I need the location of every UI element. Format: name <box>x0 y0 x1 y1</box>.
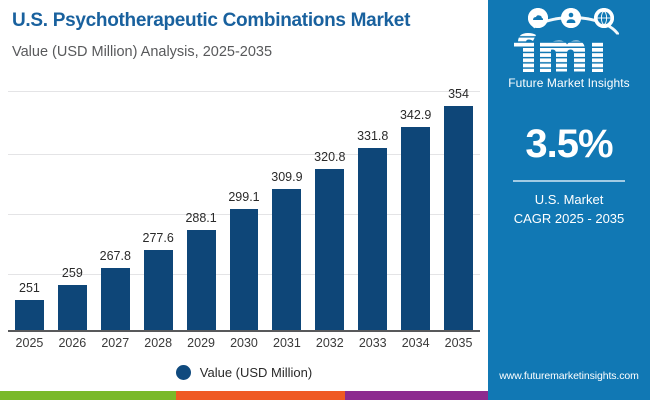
x-axis-tick: 2035 <box>437 336 480 350</box>
x-axis-tick: 2028 <box>137 336 180 350</box>
bar[interactable] <box>15 300 44 330</box>
fmi-logo: Future Market Insights <box>488 8 650 94</box>
x-axis-line <box>8 330 480 332</box>
footer-stripe-green <box>0 391 176 400</box>
site-url: www.futuremarketinsights.com <box>488 370 650 382</box>
bar-column[interactable]: 320.8 <box>308 91 351 330</box>
bar-value-label: 320.8 <box>308 150 351 164</box>
footer-stripe <box>0 391 650 400</box>
bar-value-label: 259 <box>51 266 94 280</box>
footer-stripe-purple <box>345 391 488 400</box>
bar-column[interactable]: 251 <box>8 91 51 330</box>
logo-tagline: Future Market Insights <box>488 76 650 90</box>
cagr-market-label: U.S. Market <box>488 192 650 207</box>
bar-column[interactable]: 288.1 <box>180 91 223 330</box>
cagr-period-label: CAGR 2025 - 2035 <box>488 211 650 226</box>
legend-marker-icon <box>176 365 191 380</box>
x-axis-tick: 2034 <box>394 336 437 350</box>
bar[interactable] <box>144 250 173 330</box>
bar-column[interactable]: 267.8 <box>94 91 137 330</box>
cagr-value: 3.5% <box>488 122 650 167</box>
bar-value-label: 267.8 <box>94 249 137 263</box>
x-axis-tick: 2032 <box>308 336 351 350</box>
bar-value-label: 309.9 <box>265 170 308 184</box>
bar[interactable] <box>444 106 473 330</box>
bar[interactable] <box>101 268 130 330</box>
bar[interactable] <box>315 169 344 330</box>
bar-column[interactable]: 299.1 <box>223 91 266 330</box>
bar[interactable] <box>272 189 301 330</box>
footer-stripe-blue <box>488 391 650 400</box>
bar[interactable] <box>230 209 259 330</box>
bar-value-label: 342.9 <box>394 108 437 122</box>
bar-value-label: 277.6 <box>137 231 180 245</box>
chart-legend: Value (USD Million) <box>0 365 488 380</box>
bar-value-label: 288.1 <box>180 211 223 225</box>
chart-panel: U.S. Psychotherapeutic Combinations Mark… <box>0 0 488 400</box>
cagr-divider <box>513 180 625 182</box>
x-axis-tick: 2027 <box>94 336 137 350</box>
x-axis-labels: 2025202620272028202920302031203220332034… <box>8 336 480 356</box>
footer-stripe-orange <box>176 391 345 400</box>
x-axis-tick: 2033 <box>351 336 394 350</box>
bar-column[interactable]: 331.8 <box>351 91 394 330</box>
page-subtitle: Value (USD Million) Analysis, 2025-2035 <box>12 44 272 60</box>
bar-column[interactable]: 342.9 <box>394 91 437 330</box>
legend-label: Value (USD Million) <box>200 365 312 380</box>
x-axis-tick: 2031 <box>265 336 308 350</box>
bar-column[interactable]: 354 <box>437 91 480 330</box>
bar-column[interactable]: 259 <box>51 91 94 330</box>
bar-value-label: 299.1 <box>223 190 266 204</box>
bar[interactable] <box>58 285 87 330</box>
bar-series: 251259267.8277.6288.1299.1309.9320.8331.… <box>8 91 480 330</box>
brand-panel: Future Market Insights 3.5% U.S. Market … <box>488 0 650 400</box>
fmi-wordmark-icon <box>488 22 650 74</box>
bar-column[interactable]: 309.9 <box>265 91 308 330</box>
x-axis-tick: 2025 <box>8 336 51 350</box>
bar[interactable] <box>187 230 216 330</box>
bar-column[interactable]: 277.6 <box>137 91 180 330</box>
bar[interactable] <box>358 148 387 330</box>
bar-value-label: 354 <box>437 87 480 101</box>
x-axis-tick: 2030 <box>223 336 266 350</box>
bar[interactable] <box>401 127 430 330</box>
bar-value-label: 251 <box>8 281 51 295</box>
bar-value-label: 331.8 <box>351 129 394 143</box>
page-title: U.S. Psychotherapeutic Combinations Mark… <box>12 10 410 32</box>
x-axis-tick: 2029 <box>180 336 223 350</box>
x-axis-tick: 2026 <box>51 336 94 350</box>
